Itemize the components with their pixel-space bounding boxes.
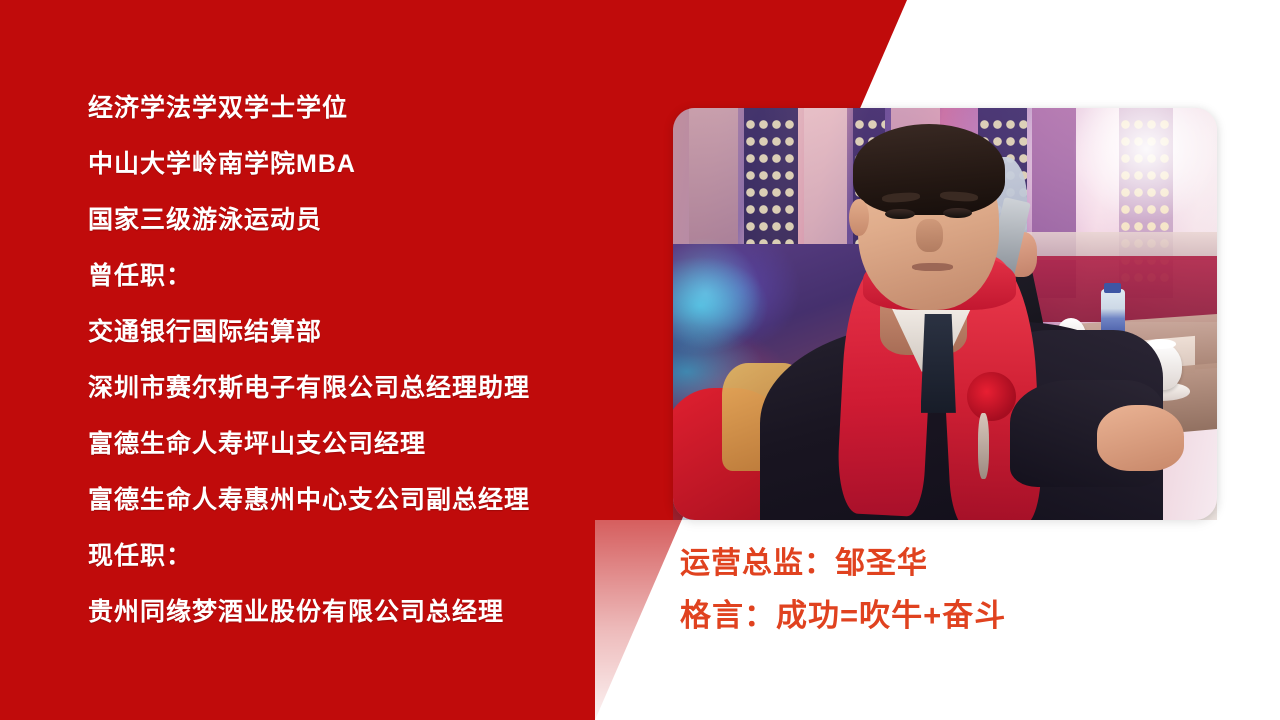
bio-line: 富德生命人寿坪山支公司经理 [88,416,608,472]
bio-line: 经济学法学双学士学位 [88,80,608,136]
bio-line: 国家三级游泳运动员 [88,192,608,248]
bio-line: 富德生命人寿惠州中心支公司副总经理 [88,472,608,528]
bio-line: 中山大学岭南学院MBA [88,136,608,192]
bio-text-list: 经济学法学双学士学位 中山大学岭南学院MBA 国家三级游泳运动员 曾任职： 交通… [88,80,608,640]
bio-line: 交通银行国际结算部 [88,304,608,360]
stage-light-glow [1054,108,1217,223]
bio-line: 现任职： [88,528,608,584]
bio-line: 贵州同缘梦酒业股份有限公司总经理 [88,584,608,640]
caption-title-line: 运营总监：邹圣华 [680,538,1220,590]
bio-line: 深圳市赛尔斯电子有限公司总经理助理 [88,360,608,416]
caption-motto-line: 格言：成功=吹牛+奋斗 [680,590,1220,642]
person-hair [853,124,1005,215]
portrait-photo [673,108,1217,520]
photo-caption-block: 运营总监：邹圣华 格言：成功=吹牛+奋斗 [680,538,1220,642]
bio-line: 曾任职： [88,248,608,304]
boutonniere-flower [967,372,1016,421]
necktie [921,314,956,413]
person-hand [1097,405,1184,471]
slide-canvas: 经济学法学双学士学位 中山大学岭南学院MBA 国家三级游泳运动员 曾任职： 交通… [0,0,1280,720]
